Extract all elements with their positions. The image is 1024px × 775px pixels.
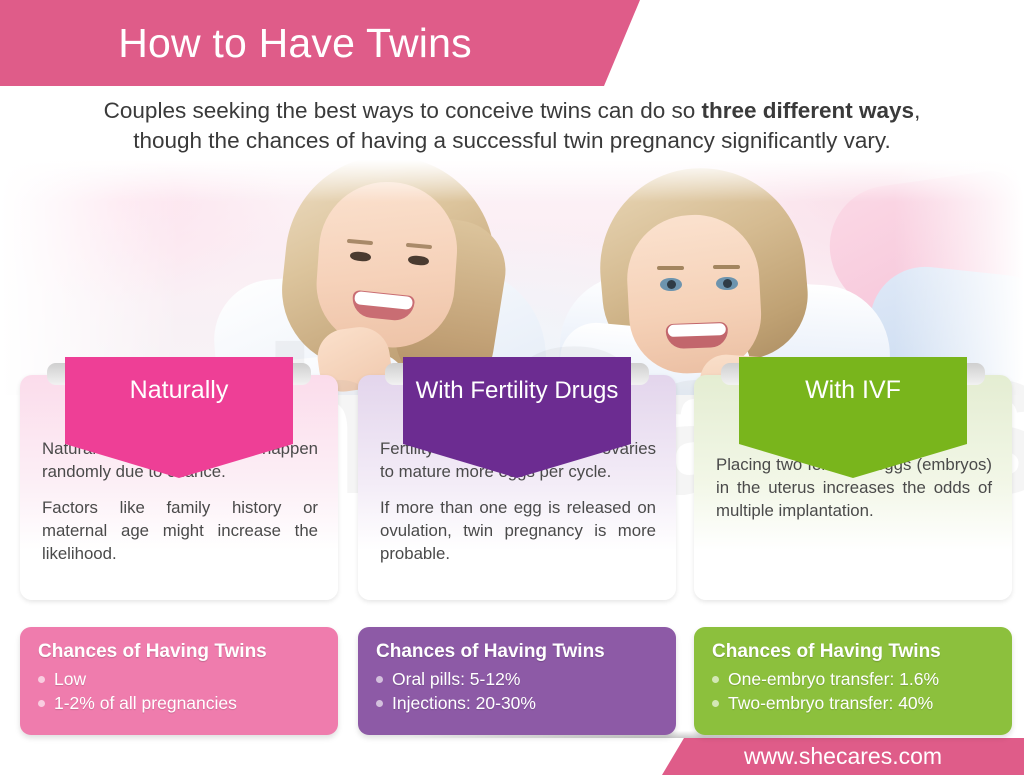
chances-list: Low 1-2% of all pregnancies — [20, 667, 338, 715]
subtitle-block: Couples seeking the best ways to conceiv… — [0, 96, 1024, 156]
subtitle-emphasis: three different ways — [702, 98, 915, 123]
cards-row: Natural twin pregnancies happen randomly… — [0, 355, 1024, 725]
ribbon-fold-left-icon — [47, 363, 65, 385]
ribbon-point-icon — [403, 444, 631, 478]
ribbon-fold-right-icon — [631, 363, 649, 385]
right-girl-pupil-right — [723, 279, 732, 288]
card-ribbon: Naturally — [65, 357, 293, 444]
right-girl-teeth — [668, 323, 726, 337]
infographic-page: How to Have Twins Couples seeking the be… — [0, 0, 1024, 775]
chances-box: Chances of Having Twins One-embryo trans… — [694, 627, 1012, 735]
title-banner: How to Have Twins — [0, 0, 640, 86]
chances-item: One-embryo transfer: 1.6% — [712, 667, 1012, 691]
chances-box: Chances of Having Twins Oral pills: 5-12… — [358, 627, 676, 735]
card-ribbon: With IVF — [739, 357, 967, 444]
footer-url[interactable]: www.shecares.com — [662, 738, 1024, 775]
subtitle-line-1-text-b: , — [914, 98, 920, 123]
subtitle-line-2: though the chances of having a successfu… — [0, 126, 1024, 156]
right-girl-mouth — [666, 322, 729, 349]
ribbon-fold-left-icon — [385, 363, 403, 385]
chances-title: Chances of Having Twins — [38, 641, 338, 663]
chances-list: One-embryo transfer: 1.6% Two-embryo tra… — [694, 667, 1012, 715]
chances-box: Chances of Having Twins Low 1-2% of all … — [20, 627, 338, 735]
right-girl-face — [624, 212, 764, 377]
chances-item: Two-embryo transfer: 40% — [712, 691, 1012, 715]
subtitle-line-1-text-a: Couples seeking the best ways to conceiv… — [104, 98, 702, 123]
card-paragraph: Factors like family history or maternal … — [42, 496, 318, 565]
card-paragraph: If more than one egg is released on ovul… — [380, 496, 656, 565]
right-girl-pupil-left — [667, 280, 676, 289]
chances-item: Oral pills: 5-12% — [376, 667, 676, 691]
ribbon-fold-right-icon — [967, 363, 985, 385]
subtitle-line-1: Couples seeking the best ways to conceiv… — [0, 96, 1024, 126]
footer-banner: www.shecares.com — [662, 738, 1024, 775]
right-girl-brow-left — [657, 266, 684, 270]
card-fertility-drugs: Fertility drugs stimulate the ovaries to… — [358, 375, 676, 600]
chances-list: Oral pills: 5-12% Injections: 20-30% — [358, 667, 676, 715]
card-heading: Naturally — [65, 357, 293, 444]
card-heading: With IVF — [739, 357, 967, 444]
page-title: How to Have Twins — [0, 0, 590, 86]
chances-item: Injections: 20-30% — [376, 691, 676, 715]
chances-item: Low — [38, 667, 338, 691]
right-girl-brow-right — [713, 265, 740, 269]
chances-item: 1-2% of all pregnancies — [38, 691, 338, 715]
card-ribbon: With Fertility Drugs — [403, 357, 631, 444]
chances-title: Chances of Having Twins — [376, 641, 676, 663]
ribbon-point-icon — [739, 444, 967, 478]
chances-title: Chances of Having Twins — [712, 641, 1012, 663]
ribbon-point-icon — [65, 444, 293, 478]
card-naturally: Natural twin pregnancies happen randomly… — [20, 375, 338, 600]
card-ivf: Placing two fertilized eggs (embryos) in… — [694, 375, 1012, 600]
card-heading: With Fertility Drugs — [403, 357, 631, 444]
ribbon-fold-left-icon — [721, 363, 739, 385]
ribbon-fold-right-icon — [293, 363, 311, 385]
